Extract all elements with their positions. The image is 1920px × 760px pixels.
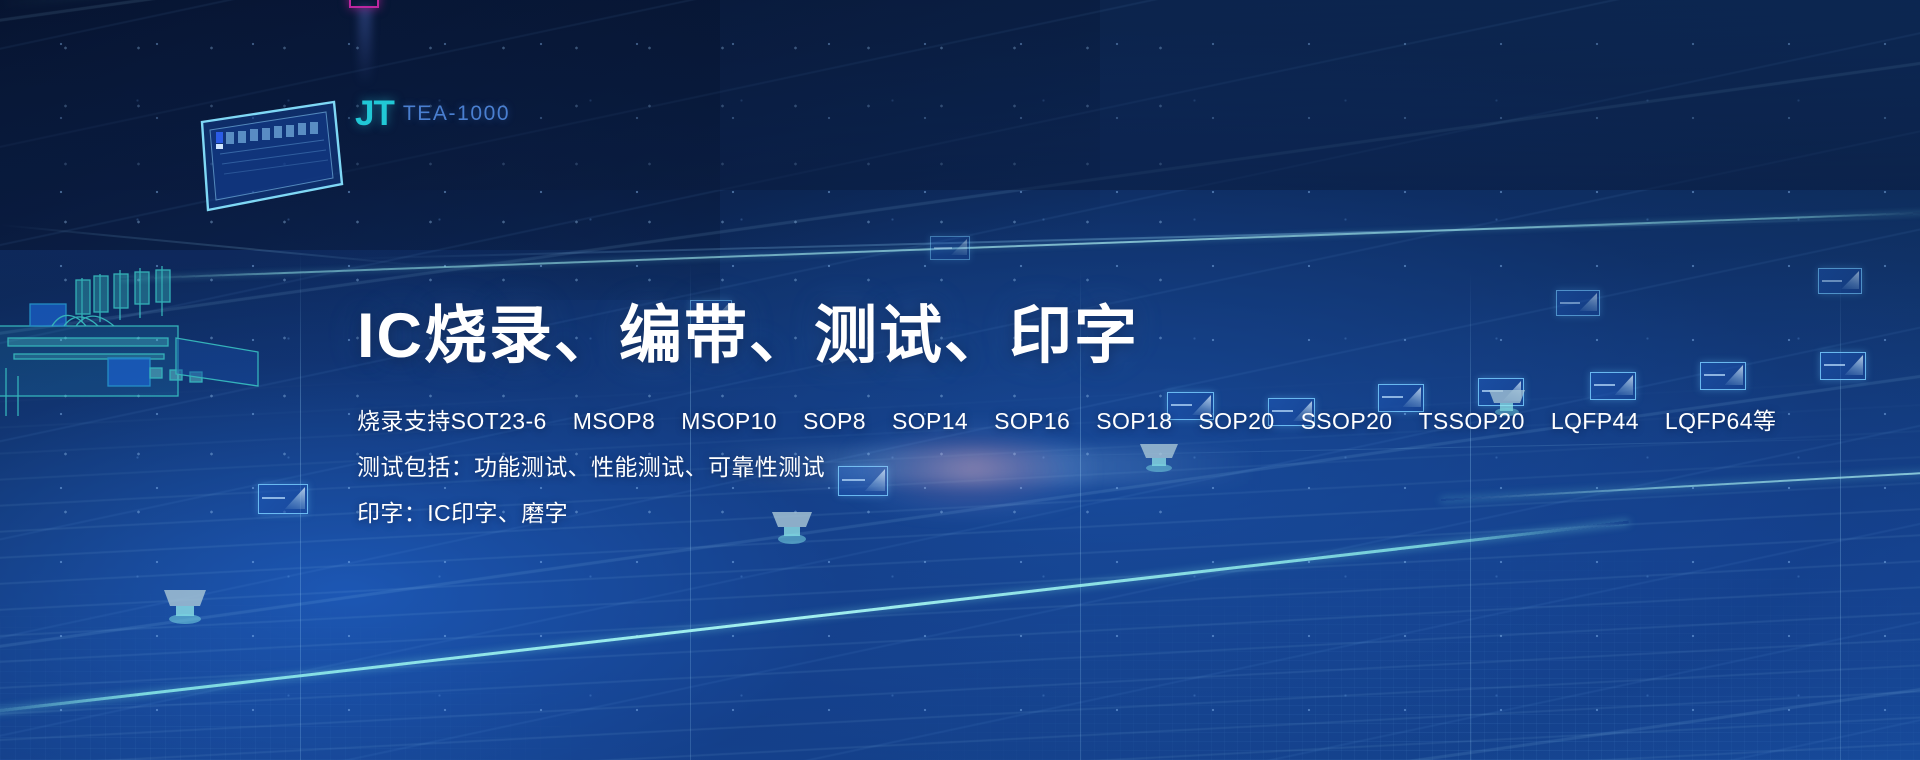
upper-cyan-rail [120, 211, 1920, 280]
package-label: MSOP8 [573, 408, 656, 434]
package-label: TSSOP20 [1418, 408, 1524, 434]
wall-screen-icon-11 [930, 236, 970, 260]
package-label: SOP8 [803, 408, 866, 434]
pillar-line-5 [1840, 276, 1841, 760]
package-list: MSOP8MSOP10SOP8SOP14SOP16SOP18SOP20SSOP2… [573, 398, 1777, 444]
hero-banner: JT TEA-1000 IC烧录、编带、测试、印字 烧录支持SOT23-6 MS… [0, 0, 1920, 760]
wall-screen-icon-9 [1820, 352, 1866, 380]
package-label: MSOP10 [681, 408, 777, 434]
wall-screen-icon-1 [258, 484, 308, 514]
wall-screen-icon-8 [1700, 362, 1746, 390]
burn-lead-label: 烧录支持SOT23-6 [357, 398, 547, 444]
wall-edge-line-upper [340, 217, 1920, 260]
subtitle-test-scope: 测试包括：功能测试、性能测试、可靠性测试 [357, 444, 1657, 490]
package-label: SOP16 [994, 408, 1070, 434]
marker-beam [358, 6, 372, 86]
brand-logo: JT TEA-1000 [355, 96, 510, 131]
ceiling-shading [0, 0, 1100, 250]
subtitle-printing-scope: 印字：IC印字、磨字 [357, 490, 1657, 536]
package-label: LQFP64等 [1665, 408, 1776, 434]
workstation-monitor-graphic [196, 98, 346, 216]
logo-mark: JT [355, 96, 394, 131]
package-label: LQFP44 [1551, 408, 1639, 434]
package-label: SSOP20 [1301, 408, 1393, 434]
production-machine-graphic [0, 218, 280, 418]
package-label: SOP14 [892, 408, 968, 434]
rail-mount-1 [150, 586, 220, 626]
subtitle-group: 烧录支持SOT23-6 MSOP8MSOP10SOP8SOP14SOP16SOP… [357, 398, 1657, 536]
page-title: IC烧录、编带、测试、印字 [357, 300, 1657, 372]
hero-text-block: IC烧录、编带、测试、印字 烧录支持SOT23-6 MSOP8MSOP10SOP… [357, 300, 1657, 536]
package-label: SOP20 [1198, 408, 1274, 434]
subtitle-burn-packages: 烧录支持SOT23-6 MSOP8MSOP10SOP8SOP14SOP16SOP… [357, 398, 1657, 444]
floor-rail-glow [0, 0, 1689, 9]
logo-model-label: TEA-1000 [403, 102, 510, 126]
package-label: SOP18 [1096, 408, 1172, 434]
magenta-marker-icon [349, 0, 379, 8]
wall-screen-icon-13 [1818, 268, 1862, 294]
